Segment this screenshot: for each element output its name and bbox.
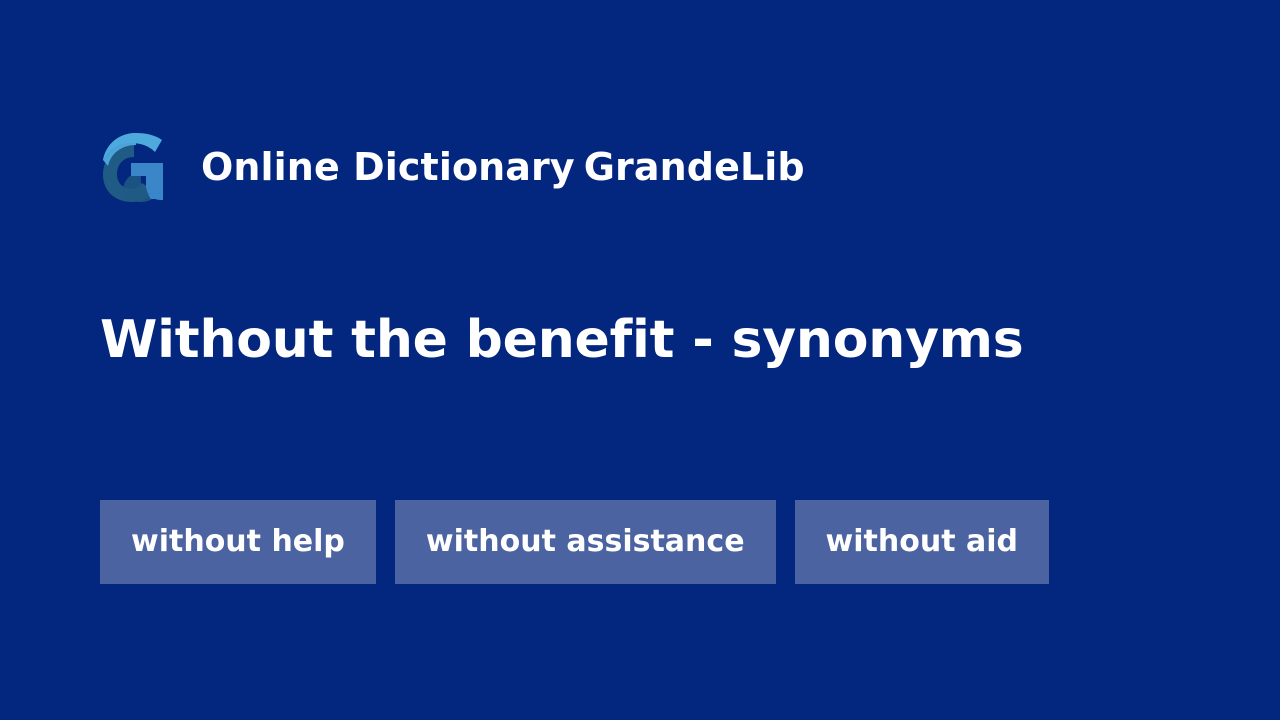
synonym-chip[interactable]: without help xyxy=(100,500,376,584)
site-title-prefix: Online Dictionary xyxy=(201,145,575,189)
synonym-chip[interactable]: without assistance xyxy=(395,500,776,584)
site-header: Online DictionaryGrandeLib xyxy=(100,131,805,203)
site-brand-name: GrandeLib xyxy=(584,145,805,189)
page-root: Online DictionaryGrandeLib Without the b… xyxy=(0,0,1280,720)
synonym-chip[interactable]: without aid xyxy=(795,500,1049,584)
page-title: Without the benefit - synonyms xyxy=(100,308,1200,372)
synonym-list: without help without assistance without … xyxy=(100,500,1200,584)
grandelib-g-logo-icon xyxy=(100,131,168,203)
site-title: Online DictionaryGrandeLib xyxy=(201,148,805,186)
